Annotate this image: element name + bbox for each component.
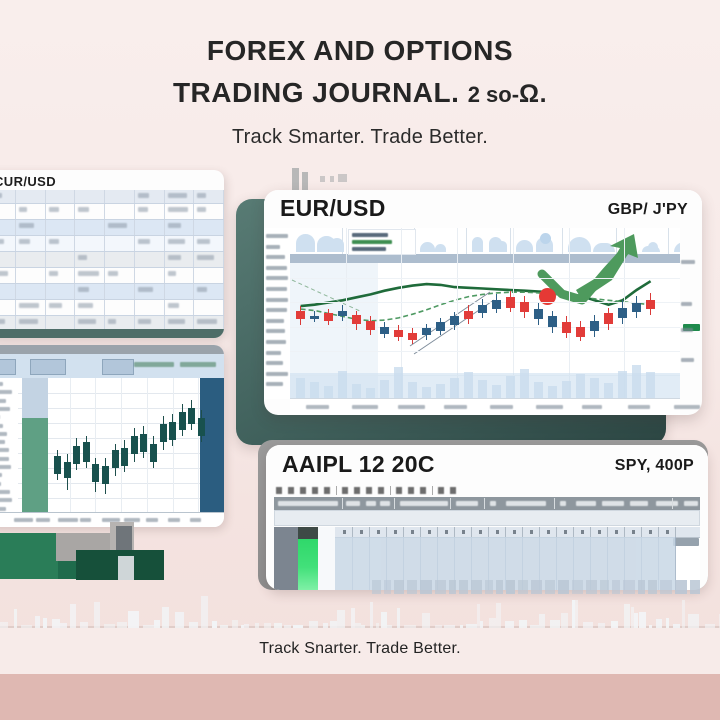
decor-strip-bar xyxy=(572,580,583,594)
cell-text xyxy=(168,319,185,324)
table-cell[interactable] xyxy=(75,220,105,235)
skyline-building xyxy=(175,612,184,628)
main-chart-plot xyxy=(290,228,680,399)
toolbar-icon[interactable] xyxy=(324,487,330,494)
decor-strip-bar xyxy=(623,580,635,594)
x-tick-label xyxy=(582,405,602,409)
table-cell[interactable] xyxy=(16,252,46,267)
title-line-1: FOREX AND OPTIONS xyxy=(0,34,720,68)
column-header-glyph xyxy=(581,530,584,534)
table-cell[interactable] xyxy=(0,190,16,203)
column-header[interactable] xyxy=(454,527,472,537)
table-cell[interactable] xyxy=(0,252,16,267)
data-column[interactable] xyxy=(352,537,370,590)
axis-tick-label xyxy=(0,465,11,469)
column-header-glyph xyxy=(530,530,533,534)
table-row[interactable] xyxy=(0,268,224,284)
menu-item[interactable] xyxy=(602,501,624,506)
y-tick-label xyxy=(266,234,288,238)
candle-body xyxy=(632,303,641,312)
skyline-building xyxy=(154,620,160,628)
column-header-glyph xyxy=(479,530,482,534)
table-cell[interactable] xyxy=(194,220,224,235)
column-header[interactable] xyxy=(624,527,642,537)
toolbar-icon[interactable] xyxy=(378,487,384,494)
table-cell[interactable] xyxy=(0,236,16,251)
table-cell[interactable] xyxy=(46,268,76,283)
table-cell[interactable] xyxy=(194,252,224,267)
column-header[interactable] xyxy=(420,527,438,537)
candle-body xyxy=(506,297,515,307)
decor-strip-bar xyxy=(612,580,620,594)
volume-bar xyxy=(534,382,543,399)
y-tick-label xyxy=(266,255,285,259)
table-cell[interactable] xyxy=(46,190,76,203)
candle-body xyxy=(548,316,557,326)
candle-body xyxy=(169,422,176,440)
main-chart-title-left: EUR/USD xyxy=(280,195,386,222)
y-tick-label xyxy=(266,361,283,365)
table-cell[interactable] xyxy=(194,300,224,315)
table-cell[interactable] xyxy=(105,268,135,283)
x-tick-label xyxy=(628,405,650,409)
axis-tick-label xyxy=(0,507,6,511)
candlestick xyxy=(160,378,167,513)
candle-body xyxy=(179,412,186,430)
candle-body xyxy=(646,300,655,309)
column-header[interactable] xyxy=(573,527,591,537)
table-cell[interactable] xyxy=(0,284,16,299)
y-tick-label xyxy=(266,329,285,333)
cell-text xyxy=(197,319,217,324)
volume-bar xyxy=(492,385,501,399)
candlestick xyxy=(64,378,71,513)
right-tick-label xyxy=(681,302,692,306)
column-header[interactable] xyxy=(488,527,506,537)
panel-options-table[interactable]: AAIPL 12 20C SPY, 400P xyxy=(266,445,708,590)
candle-body xyxy=(121,448,128,466)
axis-tick-label xyxy=(0,399,6,403)
table-cell[interactable] xyxy=(194,236,224,251)
menu-item[interactable] xyxy=(490,501,496,506)
menu-item[interactable] xyxy=(380,501,390,506)
skyline-building xyxy=(575,600,578,628)
table-cell[interactable] xyxy=(46,300,76,315)
axis-tick-label xyxy=(0,407,10,411)
table-cell[interactable] xyxy=(75,252,105,267)
column-header-glyph xyxy=(666,530,669,534)
table-cell[interactable] xyxy=(0,204,16,219)
candle-body xyxy=(198,418,205,436)
decor-strip-bar xyxy=(531,580,542,594)
table-row[interactable] xyxy=(0,300,224,316)
options-tail-cell xyxy=(673,538,699,546)
table-cell[interactable] xyxy=(135,300,165,315)
candle-body xyxy=(188,408,195,424)
panel-candlestick-left[interactable] xyxy=(0,345,224,527)
column-header[interactable] xyxy=(437,527,455,537)
toolbar-icon[interactable] xyxy=(450,487,456,494)
panel-spreadsheet-top-left[interactable]: CUR/USD xyxy=(0,170,224,338)
axis-tick-label xyxy=(0,432,7,436)
x-tick-label xyxy=(352,405,378,409)
ribbon-label xyxy=(180,362,216,367)
menu-item[interactable] xyxy=(656,501,678,506)
skyline-building xyxy=(550,620,560,628)
skyline-building xyxy=(422,613,430,628)
column-header[interactable] xyxy=(471,527,489,537)
candlestick xyxy=(188,378,195,513)
table-cell[interactable] xyxy=(105,284,135,299)
options-blank-column xyxy=(318,527,335,590)
cell-text xyxy=(168,207,188,212)
column-header[interactable] xyxy=(522,527,540,537)
cell-text xyxy=(78,319,96,324)
table-cell[interactable] xyxy=(165,204,195,219)
cell-text xyxy=(138,287,153,292)
column-header-glyph xyxy=(598,530,601,534)
volume-bar xyxy=(548,386,557,399)
candlestick xyxy=(198,378,205,513)
decor-strip-bar xyxy=(600,580,609,594)
table-cell[interactable] xyxy=(0,220,16,235)
candle-body xyxy=(534,309,543,319)
table-cell[interactable] xyxy=(46,204,76,219)
candle-body xyxy=(604,313,613,323)
column-header-glyph xyxy=(632,530,635,534)
menu-item[interactable] xyxy=(630,501,648,506)
toolbar-icon[interactable] xyxy=(408,487,414,494)
panel-main-chart[interactable]: EUR/USD GBP/ J'PY xyxy=(264,190,702,415)
toolbar-icon[interactable] xyxy=(396,487,402,494)
skyline-building xyxy=(496,603,501,628)
table-cell[interactable] xyxy=(16,300,46,315)
table-cell[interactable] xyxy=(135,268,165,283)
column-header-glyph xyxy=(547,530,550,534)
table-cell[interactable] xyxy=(75,300,105,315)
table-cell[interactable] xyxy=(46,284,76,299)
y-tick-label xyxy=(266,245,280,249)
candle-body xyxy=(590,321,599,331)
cell-text xyxy=(138,207,148,212)
y-tick-label xyxy=(266,298,288,302)
decor-bar-1 xyxy=(292,168,299,190)
cell-text xyxy=(49,239,59,244)
cell-text xyxy=(78,271,99,276)
toolbar-icon[interactable] xyxy=(354,487,360,494)
column-header[interactable] xyxy=(369,527,387,537)
candle-body xyxy=(64,462,71,478)
table-cell[interactable] xyxy=(75,236,105,251)
candle-body xyxy=(73,446,80,464)
column-header[interactable] xyxy=(556,527,574,537)
cell-text xyxy=(168,271,176,276)
volume-bar xyxy=(632,365,641,399)
toolbar-icon[interactable] xyxy=(300,487,306,494)
candle-body xyxy=(408,333,417,340)
skyline-building xyxy=(505,621,514,628)
menu-item[interactable] xyxy=(366,501,376,506)
candle-body xyxy=(576,327,585,337)
decor-bar-2 xyxy=(302,172,308,190)
table-cell[interactable] xyxy=(75,284,105,299)
options-highlight-column xyxy=(298,539,318,590)
column-header[interactable] xyxy=(403,527,421,537)
table-cell[interactable] xyxy=(46,252,76,267)
skyline-building xyxy=(639,612,646,628)
menu-item[interactable] xyxy=(506,501,546,506)
decor-bar-4 xyxy=(330,176,334,182)
toolbar-icon[interactable] xyxy=(366,487,372,494)
candle-body xyxy=(380,327,389,334)
volume-bar xyxy=(604,383,613,399)
window-titlebar xyxy=(0,345,224,354)
volume-bar xyxy=(464,372,473,399)
ribbon-label xyxy=(134,362,174,367)
candle-body xyxy=(140,434,147,452)
table-row[interactable] xyxy=(0,236,224,252)
panel-bottom-rail xyxy=(0,329,224,338)
cell-text xyxy=(168,255,181,260)
skyline-building xyxy=(370,602,373,628)
skyline-building xyxy=(397,608,400,628)
table-cell[interactable] xyxy=(105,190,135,203)
axis-tick-label xyxy=(0,424,3,428)
decor-bar-3 xyxy=(320,176,325,182)
table-row[interactable] xyxy=(0,284,224,300)
table-cell[interactable] xyxy=(16,268,46,283)
column-header[interactable] xyxy=(335,527,353,537)
right-tick-label xyxy=(681,260,695,264)
volume-bar xyxy=(394,367,403,399)
cell-text xyxy=(138,193,149,198)
x-tick-label xyxy=(444,405,467,409)
table-cell[interactable] xyxy=(165,190,195,203)
table-cell[interactable] xyxy=(165,268,195,283)
toolbar-ribbon[interactable] xyxy=(0,354,224,379)
options-icon-toolbar[interactable] xyxy=(274,485,700,496)
table-cell[interactable] xyxy=(194,284,224,299)
table-cell[interactable] xyxy=(165,284,195,299)
volume-bar xyxy=(408,382,417,399)
decor-strip-bar xyxy=(690,580,700,594)
y-tick-label xyxy=(266,372,288,376)
candlestick xyxy=(102,378,109,513)
x-tick-label xyxy=(58,518,78,522)
table-cell[interactable] xyxy=(16,220,46,235)
cell-text xyxy=(108,271,118,276)
candlestick xyxy=(92,378,99,513)
table-cell[interactable] xyxy=(105,204,135,219)
volume-bar-top xyxy=(22,378,48,418)
table-row[interactable] xyxy=(0,220,224,236)
decor-strip-bar xyxy=(485,580,493,594)
column-header-glyph xyxy=(564,530,567,534)
table-cell[interactable] xyxy=(75,190,105,203)
cell-text xyxy=(49,207,59,212)
table-cell[interactable] xyxy=(165,236,195,251)
table-cell[interactable] xyxy=(16,284,46,299)
column-header-glyph xyxy=(343,530,346,534)
table-cell[interactable] xyxy=(194,190,224,203)
y-tick-label xyxy=(266,319,284,323)
menu-item[interactable] xyxy=(560,501,566,506)
cell-text xyxy=(19,319,38,324)
axis-tick-label xyxy=(0,490,10,494)
decor-strip-bar xyxy=(648,580,657,594)
decor-strip-bar xyxy=(545,580,555,594)
cell-text xyxy=(168,193,187,198)
candle-body xyxy=(296,311,305,320)
cell-text xyxy=(0,239,4,244)
table-cell[interactable] xyxy=(46,220,76,235)
table-cell[interactable] xyxy=(105,252,135,267)
table-cell[interactable] xyxy=(16,236,46,251)
decor-strip-bar xyxy=(638,580,645,594)
volume-bar xyxy=(478,380,487,399)
skyline-decoration xyxy=(0,592,720,628)
decor-strip-bar xyxy=(459,580,468,594)
ribbon-button[interactable] xyxy=(30,359,66,375)
toolbar-icon[interactable] xyxy=(276,487,282,494)
axis-tick-label xyxy=(0,473,2,477)
candle-body xyxy=(160,424,167,442)
cell-text xyxy=(49,271,58,276)
column-header[interactable] xyxy=(539,527,557,537)
skyline-building xyxy=(539,614,545,628)
column-header[interactable] xyxy=(352,527,370,537)
table-row[interactable] xyxy=(0,190,224,204)
column-header[interactable] xyxy=(590,527,608,537)
table-cell[interactable] xyxy=(135,284,165,299)
candlestick xyxy=(140,378,147,513)
candlestick xyxy=(54,378,61,513)
table-cell[interactable] xyxy=(165,300,195,315)
x-tick-label xyxy=(306,405,329,409)
candle-body xyxy=(520,302,529,312)
toolbar-icon[interactable] xyxy=(438,487,444,494)
table-cell[interactable] xyxy=(75,268,105,283)
options-menu-ribbon[interactable] xyxy=(274,497,700,510)
skyline-building xyxy=(611,621,618,628)
table-cell[interactable] xyxy=(0,300,16,315)
cell-text xyxy=(108,223,127,228)
skyline-building xyxy=(519,620,527,628)
options-titlebar: AAIPL 12 20C SPY, 400P xyxy=(266,445,708,485)
cell-text xyxy=(78,255,87,260)
decor-strip-bar xyxy=(496,580,503,594)
column-header[interactable] xyxy=(658,527,676,537)
candlestick-plot xyxy=(18,378,224,513)
cell-text xyxy=(0,319,5,324)
cell-text xyxy=(78,207,89,212)
column-header[interactable] xyxy=(386,527,404,537)
toolbar-icon[interactable] xyxy=(342,487,348,494)
options-title-right: SPY, 400P xyxy=(615,457,694,475)
table-row[interactable] xyxy=(0,204,224,220)
menu-item[interactable] xyxy=(456,501,478,506)
table-row[interactable] xyxy=(0,252,224,268)
table-cell[interactable] xyxy=(135,252,165,267)
skyline-building xyxy=(162,607,169,628)
table-cell[interactable] xyxy=(135,236,165,251)
main-chart-title-right: GBP/ J'PY xyxy=(608,201,688,219)
cell-text xyxy=(19,303,39,308)
cell-text xyxy=(168,223,181,228)
decor-block-light xyxy=(118,556,134,580)
formula-bar[interactable] xyxy=(274,510,700,526)
x-tick-label xyxy=(398,405,425,409)
bottom-color-band xyxy=(0,674,720,720)
column-header[interactable] xyxy=(641,527,659,537)
volume-bar xyxy=(450,378,459,399)
table-cell[interactable] xyxy=(0,268,16,283)
table-cell[interactable] xyxy=(135,190,165,203)
menu-item[interactable] xyxy=(278,501,338,506)
column-header-glyph xyxy=(445,530,448,534)
column-header-glyph xyxy=(513,530,516,534)
volume-bar xyxy=(506,376,515,399)
poster-subtitle: Track Smarter. Trade Better. xyxy=(0,126,720,149)
candlestick xyxy=(150,378,157,513)
table-cell[interactable] xyxy=(105,220,135,235)
spreadsheet-grid[interactable] xyxy=(0,190,224,338)
spreadsheet-title: CUR/USD xyxy=(0,174,56,189)
y-tick-label xyxy=(266,351,281,355)
table-cell[interactable] xyxy=(16,204,46,219)
cell-text xyxy=(78,303,93,308)
table-cell[interactable] xyxy=(105,300,135,315)
menu-item[interactable] xyxy=(576,501,596,506)
volume-bar xyxy=(520,369,529,399)
toolbar-icon[interactable] xyxy=(312,487,318,494)
menu-separator xyxy=(450,498,451,509)
table-cell[interactable] xyxy=(46,236,76,251)
table-cell[interactable] xyxy=(135,204,165,219)
table-cell[interactable] xyxy=(135,220,165,235)
candle-body xyxy=(394,330,403,337)
table-cell[interactable] xyxy=(165,252,195,267)
y-tick-label xyxy=(266,308,287,312)
table-cell[interactable] xyxy=(75,204,105,219)
x-tick-label xyxy=(536,405,563,409)
column-header[interactable] xyxy=(505,527,523,537)
decor-strip-bar xyxy=(420,580,432,594)
table-cell[interactable] xyxy=(165,220,195,235)
table-cell[interactable] xyxy=(16,190,46,203)
table-cell[interactable] xyxy=(105,236,135,251)
ribbon-button[interactable] xyxy=(0,359,16,375)
x-tick-label xyxy=(36,518,50,522)
column-header-glyph xyxy=(462,530,465,534)
table-cell[interactable] xyxy=(194,268,224,283)
skyline-building xyxy=(337,610,345,628)
skyline-building xyxy=(52,619,60,628)
table-cell[interactable] xyxy=(194,204,224,219)
data-column[interactable] xyxy=(335,537,353,590)
menu-item[interactable] xyxy=(346,501,360,506)
decor-strip-bar xyxy=(506,580,515,594)
axis-tick-label xyxy=(0,482,1,486)
cell-text xyxy=(197,193,206,198)
ribbon-button[interactable] xyxy=(102,359,134,375)
column-header[interactable] xyxy=(607,527,625,537)
menu-item[interactable] xyxy=(400,501,448,506)
toolbar-icon[interactable] xyxy=(420,487,426,494)
menu-item[interactable] xyxy=(684,501,698,506)
volume-bar xyxy=(380,380,389,399)
toolbar-icon[interactable] xyxy=(288,487,294,494)
